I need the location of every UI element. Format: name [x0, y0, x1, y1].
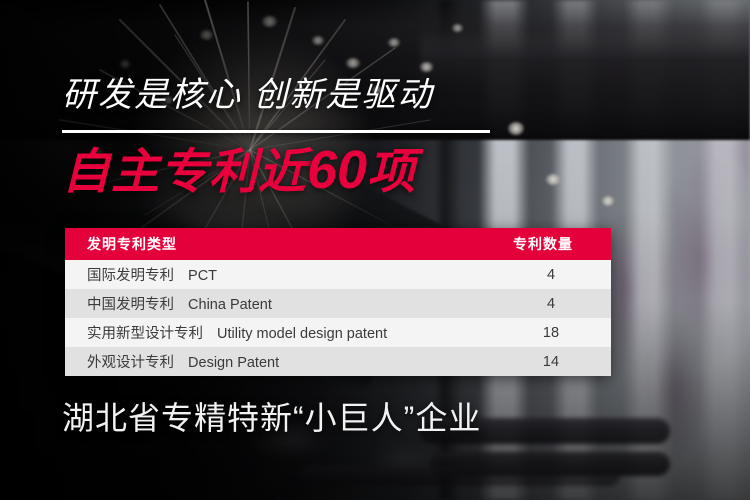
patent-count-headline-number: 60	[307, 140, 367, 200]
table-row: 外观设计专利 Design Patent 14	[65, 347, 611, 376]
company-tagline: 湖北省专精特新“小巨人”企业	[62, 402, 481, 434]
poster-content: 研发是核心 创新是驱动 自主专利近60项 发明专利类型 专利数量 国际发明专利 …	[0, 0, 750, 500]
table-header-row: 发明专利类型 专利数量	[65, 228, 611, 260]
table-row: 国际发明专利 PCT 4	[65, 260, 611, 289]
cell-patent-count: 4	[491, 267, 611, 283]
title-divider	[62, 130, 490, 133]
patent-poster: 研发是核心 创新是驱动 自主专利近60项 发明专利类型 专利数量 国际发明专利 …	[0, 0, 750, 500]
cell-patent-type-cn: 中国发明专利	[87, 297, 174, 313]
patent-count-headline: 自主专利近60项	[62, 143, 416, 197]
patent-count-headline-prefix: 自主专利近	[62, 146, 307, 199]
column-header-count: 专利数量	[483, 234, 611, 254]
cell-patent-type-en: PCT	[188, 268, 217, 284]
cell-patent-type-en: Design Patent	[188, 355, 279, 371]
patent-table: 发明专利类型 专利数量 国际发明专利 PCT 4 中国发明专利 China Pa…	[65, 228, 611, 376]
cell-patent-type: 中国发明专利 China Patent	[65, 293, 491, 314]
cell-patent-type-en: China Patent	[188, 297, 272, 313]
cell-patent-type-cn: 外观设计专利	[87, 355, 174, 371]
patent-count-headline-suffix: 项	[367, 146, 416, 199]
table-row: 实用新型设计专利 Utility model design patent 18	[65, 318, 611, 347]
cell-patent-count: 18	[491, 325, 611, 341]
table-row: 中国发明专利 China Patent 4	[65, 289, 611, 318]
cell-patent-type: 实用新型设计专利 Utility model design patent	[65, 322, 491, 343]
cell-patent-count: 4	[491, 296, 611, 312]
cell-patent-type-en: Utility model design patent	[217, 326, 387, 342]
page-title: 研发是核心 创新是驱动	[62, 78, 433, 112]
column-header-type: 发明专利类型	[65, 234, 483, 254]
cell-patent-type-cn: 实用新型设计专利	[87, 326, 203, 342]
cell-patent-type-cn: 国际发明专利	[87, 268, 174, 284]
cell-patent-type: 外观设计专利 Design Patent	[65, 351, 491, 372]
cell-patent-type: 国际发明专利 PCT	[65, 264, 491, 285]
cell-patent-count: 14	[491, 354, 611, 370]
